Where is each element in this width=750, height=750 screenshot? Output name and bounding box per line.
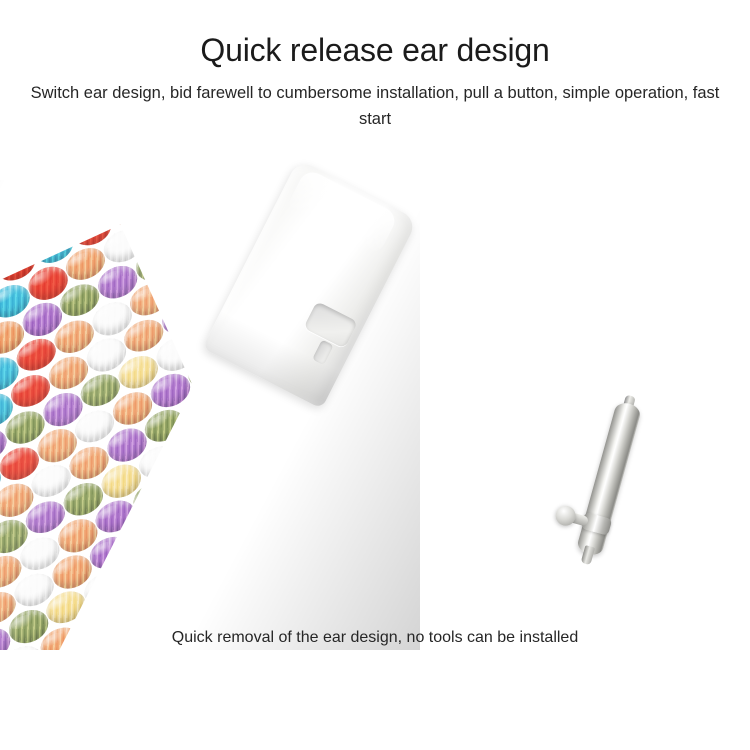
braid-knot — [154, 530, 204, 574]
page-subtitle: Switch ear design, bid farewell to cumbe… — [28, 80, 722, 132]
braid-knot — [0, 225, 9, 271]
braid-knot — [300, 493, 350, 538]
braid-knot — [279, 402, 329, 448]
connector-release-notch — [303, 301, 358, 349]
braid-knot — [401, 510, 420, 556]
page-title: Quick release ear design — [0, 30, 750, 70]
braid-knot — [326, 546, 376, 590]
braid-knot — [390, 582, 420, 626]
braid-knot — [72, 180, 122, 215]
braid-knot — [358, 564, 408, 610]
braid-knot — [332, 510, 382, 554]
braid-knot — [392, 347, 420, 393]
braid-knot — [381, 420, 420, 464]
braid-knot — [343, 438, 393, 484]
braid-knot — [157, 295, 207, 340]
braid-knot — [186, 548, 236, 593]
braid-knot — [410, 239, 420, 283]
braid-knot — [172, 422, 222, 467]
braid-knot — [212, 180, 262, 213]
braid-knot — [364, 528, 414, 573]
braid-knot — [389, 180, 420, 194]
braid-knot — [104, 187, 154, 231]
braid-knot — [209, 403, 259, 449]
spring-bar-pin — [573, 393, 644, 566]
braid-knot — [404, 275, 420, 320]
braid-knot — [369, 492, 419, 537]
braid-knot — [294, 529, 344, 575]
braid-knot — [419, 401, 420, 446]
braid-knot — [180, 180, 230, 196]
braid-knot — [273, 439, 323, 485]
page-caption: Quick removal of the ear design, no tool… — [0, 627, 750, 649]
braid-knot — [34, 188, 84, 233]
braid-knot — [387, 383, 420, 429]
braid-knot — [256, 547, 306, 592]
braid-knot — [337, 474, 387, 520]
braid-knot — [398, 311, 420, 356]
braid-knot — [162, 259, 212, 304]
spring-bar-lever-knob — [553, 503, 578, 528]
braid-knot — [206, 204, 256, 249]
braid-knot — [311, 420, 361, 464]
braid-knot — [241, 421, 291, 466]
spring-bar-shaft — [576, 400, 643, 557]
braid-knot — [111, 585, 161, 631]
braid-knot — [117, 548, 167, 594]
braid-knot — [396, 546, 420, 590]
braid-knot — [0, 206, 46, 250]
braid-knot — [413, 437, 420, 482]
braid-knot — [268, 475, 318, 519]
braid-knot — [305, 456, 355, 501]
braid-knot — [224, 529, 274, 575]
braid-knot — [230, 493, 280, 539]
braid-knot — [250, 583, 300, 628]
braid-knot — [349, 402, 399, 447]
braid-knot — [355, 366, 405, 411]
braid-knot — [2, 180, 52, 216]
braid-knot — [130, 241, 180, 287]
braid-knot — [236, 457, 286, 502]
product-feature-image: Quick release ear design Switch ear desi… — [0, 0, 750, 750]
braid-knot — [198, 475, 248, 519]
braid-knot — [415, 203, 420, 247]
braid-knot — [136, 205, 186, 251]
braid-knot — [320, 583, 370, 628]
braid-knot — [0, 189, 15, 234]
braid-knot — [149, 566, 199, 610]
braid-knot — [160, 494, 210, 540]
product-photo — [0, 150, 750, 620]
braid-knot — [204, 439, 254, 483]
braid-knot — [407, 473, 420, 519]
braid-knot — [192, 512, 242, 557]
braid-knot — [166, 458, 216, 504]
braid-knot — [181, 584, 231, 630]
braid-knot — [375, 456, 420, 500]
braid-knot — [288, 565, 338, 611]
braid-knot — [168, 223, 218, 267]
braid-knot — [360, 329, 410, 373]
braid-knot — [122, 512, 172, 557]
braid-knot — [174, 187, 224, 231]
braid-knot — [262, 511, 312, 555]
braid-knot — [40, 180, 90, 196]
braid-knot — [142, 180, 192, 214]
braid-knot — [218, 566, 268, 610]
braid-knot — [0, 180, 20, 197]
braid-knot — [110, 180, 160, 195]
